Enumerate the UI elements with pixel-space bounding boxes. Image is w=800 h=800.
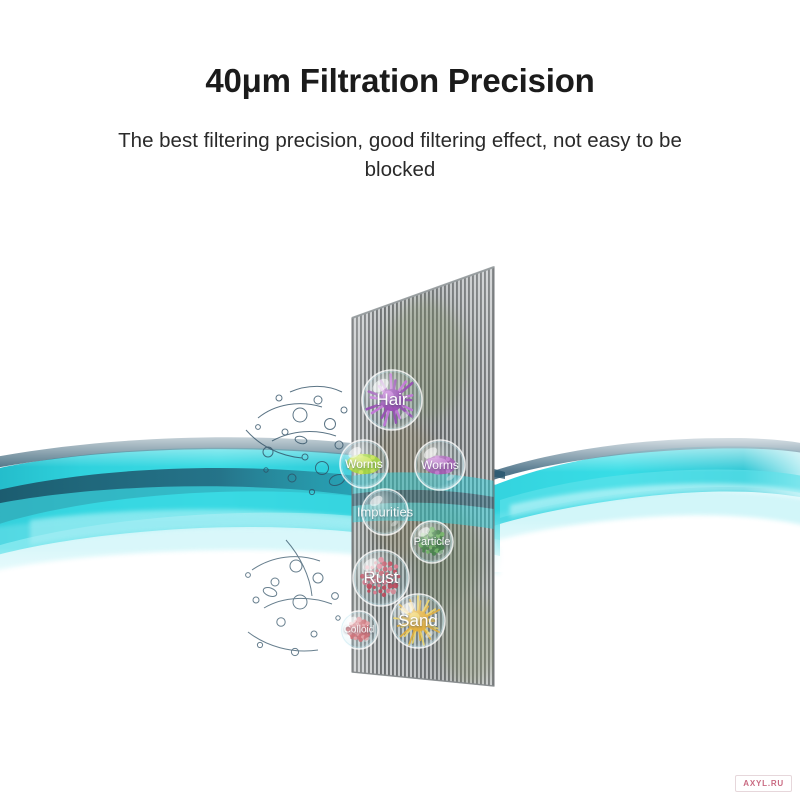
bubble-rust: [353, 550, 409, 606]
bubble-impurities: [362, 489, 408, 535]
page-title: 40μm Filtration Precision: [0, 62, 800, 100]
bubble-particle: [411, 521, 453, 563]
bubble-worms-left: [340, 440, 388, 488]
bubble-worms-right: [415, 440, 465, 490]
header: 40μm Filtration Precision The best filte…: [0, 62, 800, 184]
watermark: AXYL.RU: [735, 775, 792, 792]
page-root: 40μm Filtration Precision The best filte…: [0, 0, 800, 800]
bubble-sand: [391, 594, 445, 648]
page-subtitle: The best filtering precision, good filte…: [100, 126, 700, 184]
bubble-colloid: [340, 611, 378, 649]
bubble-hair: [362, 370, 422, 430]
